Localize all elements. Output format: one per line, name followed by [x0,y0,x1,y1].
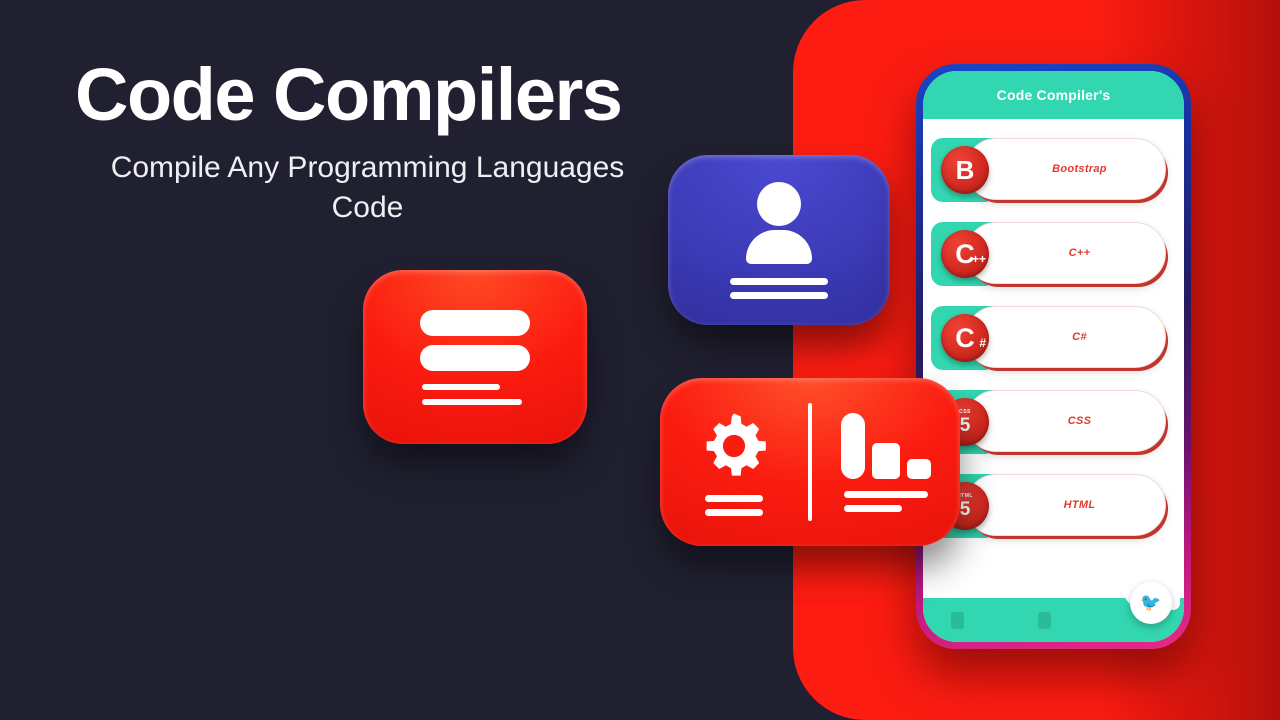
user-profile-icon [730,182,828,299]
language-label: HTML [1064,499,1096,511]
page-subtitle: Compile Any Programming Languages Code [75,148,660,228]
row-pill[interactable]: C# [965,306,1166,368]
phone-mockup: Code Compiler's Bootstrap B C++ [916,64,1191,649]
list-item[interactable]: Bootstrap B [931,132,1172,216]
tools-card[interactable] [660,378,960,546]
csharp-icon: C # [941,314,989,362]
bird-icon[interactable]: 🐦 [1130,582,1172,624]
row-pill[interactable]: HTML [965,474,1166,536]
list-card[interactable] [363,270,587,444]
bar-chart-icon [812,413,960,512]
row-pill[interactable]: Bootstrap [965,138,1166,200]
page-title: Code Compilers [75,58,621,132]
bottom-nav-bar: 🐦 [923,598,1184,642]
phone-screen: Code Compiler's Bootstrap B C++ [923,71,1184,642]
profile-card[interactable] [668,155,890,325]
bootstrap-icon: B [941,146,989,194]
list-item[interactable]: CSS CSS 5 [931,384,1172,468]
nav-item-one-icon[interactable] [951,612,964,629]
list-item[interactable]: HTML HTML 5 [931,468,1172,552]
row-pill[interactable]: CSS [965,390,1166,452]
language-label: C# [1072,331,1087,343]
language-list: Bootstrap B C++ C ++ [923,119,1184,598]
app-title: Code Compiler's [997,87,1111,103]
row-pill[interactable]: C++ [965,222,1166,284]
language-label: C++ [1069,247,1091,259]
cplusplus-icon: C ++ [941,230,989,278]
nav-item-two-icon[interactable] [1038,612,1051,629]
app-header: Code Compiler's [923,71,1184,119]
list-item[interactable]: C++ C ++ [931,216,1172,300]
list-lines-icon [420,310,530,405]
gear-icon [660,409,808,516]
language-label: CSS [1068,415,1092,427]
language-label: Bootstrap [1052,163,1107,175]
list-item[interactable]: C# C # [931,300,1172,384]
